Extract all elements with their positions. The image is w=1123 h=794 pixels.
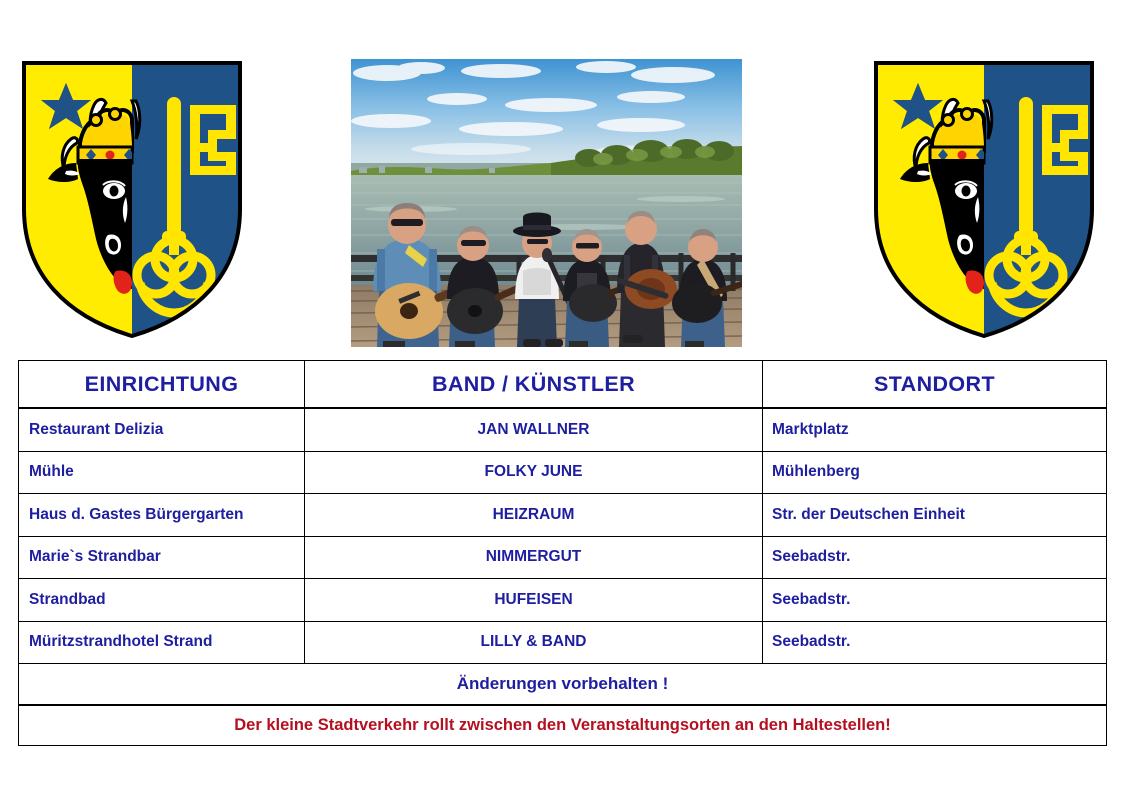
column-header-einrichtung: EINRICHTUNG (19, 361, 305, 409)
coat-of-arms-left (20, 59, 244, 340)
table-row: Mühle FOLKY JUNE Mühlenberg (19, 451, 1107, 494)
cell-standort: Mühlenberg (763, 451, 1107, 494)
band-photo-svg (351, 59, 742, 347)
band-photo (351, 59, 742, 347)
table-row: Restaurant Delizia JAN WALLNER Marktplat… (19, 408, 1107, 451)
coat-of-arms-svg (20, 59, 244, 340)
cell-einrichtung: Haus d. Gastes Bürgergarten (19, 494, 305, 537)
changes-note: Änderungen vorbehalten ! (19, 664, 1107, 706)
cell-einrichtung: Strandbad (19, 579, 305, 622)
cell-standort: Seebadstr. (763, 536, 1107, 579)
coat-of-arms-right (872, 59, 1096, 340)
shuttle-alert: Der kleine Stadtverkehr rollt zwischen d… (19, 705, 1107, 746)
cell-einrichtung: Restaurant Delizia (19, 408, 305, 451)
cell-band: NIMMERGUT (305, 536, 763, 579)
table-row: Müritzstrandhotel Strand LILLY & BAND Se… (19, 621, 1107, 664)
cell-einrichtung: Müritzstrandhotel Strand (19, 621, 305, 664)
cell-band: HUFEISEN (305, 579, 763, 622)
cell-standort: Seebadstr. (763, 621, 1107, 664)
table-row: Strandbad HUFEISEN Seebadstr. (19, 579, 1107, 622)
table-header-row: EINRICHTUNG BAND / KÜNSTLER STANDORT (19, 361, 1107, 409)
table-row: Haus d. Gastes Bürgergarten HEIZRAUM Str… (19, 494, 1107, 537)
cell-einrichtung: Marie`s Strandbar (19, 536, 305, 579)
column-header-band: BAND / KÜNSTLER (305, 361, 763, 409)
cell-band: JAN WALLNER (305, 408, 763, 451)
cell-band: FOLKY JUNE (305, 451, 763, 494)
cell-standort: Str. der Deutschen Einheit (763, 494, 1107, 537)
table-row: Marie`s Strandbar NIMMERGUT Seebadstr. (19, 536, 1107, 579)
table-note-row: Änderungen vorbehalten ! (19, 664, 1107, 706)
event-schedule-table: EINRICHTUNG BAND / KÜNSTLER STANDORT Res… (18, 360, 1107, 746)
cell-standort: Marktplatz (763, 408, 1107, 451)
cell-band: LILLY & BAND (305, 621, 763, 664)
coat-of-arms-svg (872, 59, 1096, 340)
cell-einrichtung: Mühle (19, 451, 305, 494)
column-header-standort: STANDORT (763, 361, 1107, 409)
table-alert-row: Der kleine Stadtverkehr rollt zwischen d… (19, 705, 1107, 746)
cell-band: HEIZRAUM (305, 494, 763, 537)
cell-standort: Seebadstr. (763, 579, 1107, 622)
